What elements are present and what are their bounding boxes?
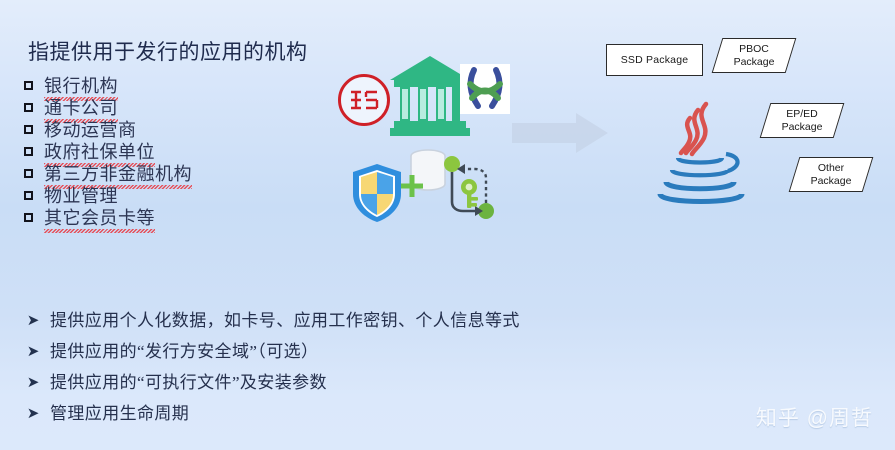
square-bullet-icon: [24, 81, 33, 90]
organisation-list: 银行机构 通卡公司 移动运营商 政府社保单位 第三方非金融机构 物业管理 其它会…: [24, 74, 192, 228]
list-item: 第三方非金融机构: [24, 162, 192, 184]
list-item: 银行机构: [24, 74, 192, 96]
list-item-label: 管理应用生命周期: [50, 403, 189, 425]
package-label-line1: Other: [818, 162, 844, 174]
list-item-label: 提供应用的“发行方安全域”（可选）: [50, 341, 318, 363]
list-item: 其它会员卡等: [24, 206, 192, 228]
package-box-eped[interactable]: EP/ED Package: [765, 103, 839, 138]
icbc-glyph: [349, 89, 379, 111]
list-item-label: 提供应用的“可执行文件”及安装参数: [50, 372, 327, 394]
package-label-line2: Package: [734, 56, 775, 68]
package-label-line1: EP/ED: [786, 108, 818, 120]
list-item: ➤ 提供应用的“发行方安全域”（可选）: [26, 341, 520, 363]
package-label: SSD Package: [621, 54, 689, 67]
package-box-pboc[interactable]: PBOC Package: [717, 38, 791, 73]
square-bullet-icon: [24, 147, 33, 156]
icbc-logo-icon: [338, 74, 390, 126]
key-lifecycle-icon: [443, 154, 495, 220]
list-item: 通卡公司: [24, 96, 192, 118]
arrow-bullet-icon: ➤: [26, 310, 40, 332]
square-bullet-icon: [24, 125, 33, 134]
responsibility-list: ➤ 提供应用个人化数据，如卡号、应用工作密钥、个人信息等式 ➤ 提供应用的“发行…: [26, 310, 520, 434]
square-bullet-icon: [24, 169, 33, 178]
package-box-other[interactable]: Other Package: [794, 157, 868, 192]
square-bullet-icon: [24, 213, 33, 222]
package-box-ssd[interactable]: SSD Package: [606, 44, 703, 76]
plus-badge-icon: [400, 174, 424, 198]
list-item: ➤ 提供应用个人化数据，如卡号、应用工作密钥、个人信息等式: [26, 310, 520, 332]
security-shield-icon: [351, 162, 403, 224]
package-label-line2: Package: [811, 175, 852, 187]
list-item-label: 提供应用个人化数据，如卡号、应用工作密钥、个人信息等式: [50, 310, 520, 332]
ribbon-glyph: [460, 64, 510, 114]
list-item: ➤ 提供应用的“可执行文件”及安装参数: [26, 372, 520, 394]
list-item-label: 其它会员卡等: [44, 204, 155, 230]
list-item: 移动运营商: [24, 118, 192, 140]
ribbon-logo-icon: [460, 64, 510, 114]
watermark: 知乎 @周哲: [756, 402, 873, 432]
java-logo-icon: [648, 96, 756, 206]
list-item: ➤ 管理应用生命周期: [26, 403, 520, 425]
arrow-bullet-icon: ➤: [26, 341, 40, 363]
page-title: 指提供用于发行的应用的机构: [28, 36, 308, 66]
square-bullet-icon: [24, 103, 33, 112]
list-item: 政府社保单位: [24, 140, 192, 162]
package-label-line1: PBOC: [739, 43, 769, 55]
issuer-icon-group: [338, 52, 518, 140]
right-arrow-icon: [512, 112, 608, 154]
security-icon-group: [345, 148, 495, 228]
square-bullet-icon: [24, 191, 33, 200]
arrow-bullet-icon: ➤: [26, 403, 40, 425]
arrow-bullet-icon: ➤: [26, 372, 40, 394]
slide-canvas: 指提供用于发行的应用的机构 银行机构 通卡公司 移动运营商 政府社保单位 第三方…: [0, 0, 895, 450]
package-label-line2: Package: [782, 121, 823, 133]
